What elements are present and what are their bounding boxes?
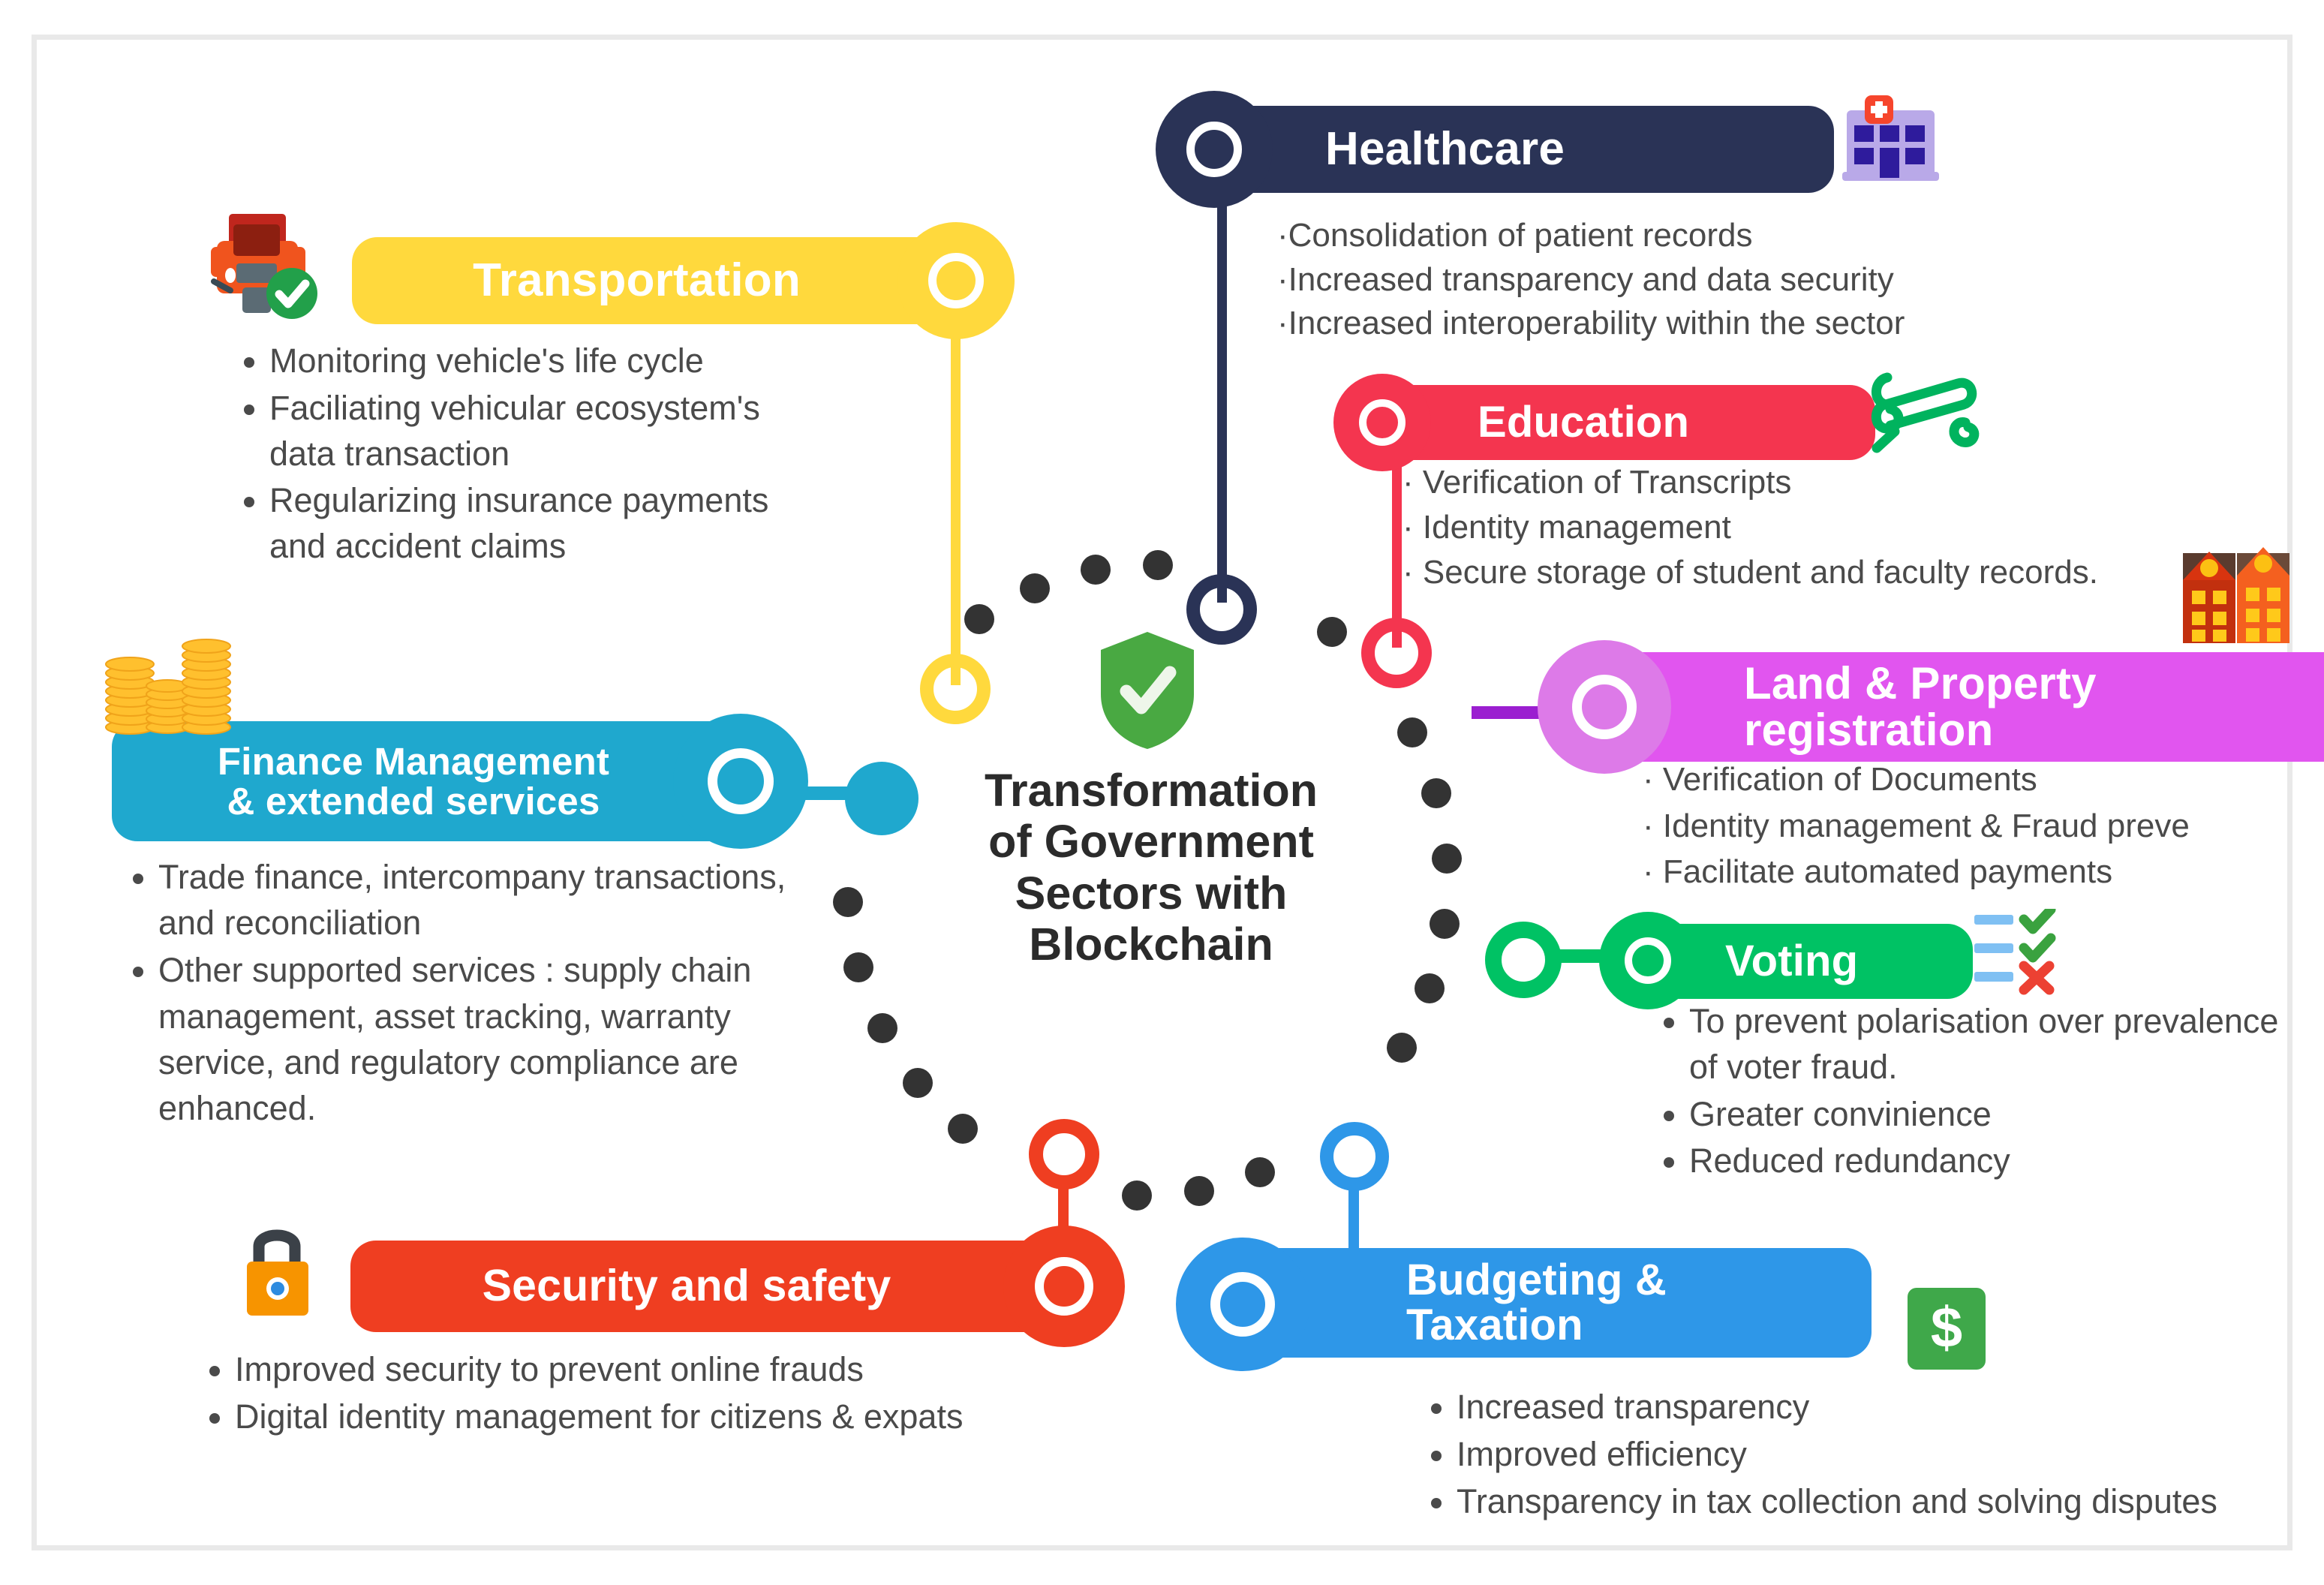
ring-dot — [1432, 844, 1462, 874]
diploma-scroll-icon — [1868, 370, 1995, 464]
list-item: Faciliating vehicular ecosystem's data t… — [269, 386, 823, 477]
land-property-label: Land & Property registration — [1744, 660, 2097, 754]
list-item: · Identity management & Fraud preve — [1643, 803, 2324, 850]
healthcare-ring-node — [1186, 574, 1257, 645]
list-item: Transparency in tax collection and solvi… — [1457, 1479, 2258, 1525]
page-title: Transformation of Government Sectors wit… — [930, 765, 1372, 970]
ring-dot — [843, 952, 873, 982]
shield-check-icon — [1098, 630, 1197, 751]
ring-dot — [867, 1013, 897, 1043]
healthcare-label: Healthcare — [1325, 125, 1565, 173]
security-bullets: Improved security to prevent online frau… — [196, 1347, 991, 1442]
padlock-icon — [236, 1218, 319, 1319]
list-item: · Secure storage of student and faculty … — [1403, 550, 2153, 595]
list-item: Trade finance, intercompany transactions… — [158, 854, 832, 946]
ring-dot — [833, 887, 863, 917]
voting-bullets: To prevent polarisation over prevalence … — [1650, 999, 2280, 1186]
ring-dot — [1415, 973, 1445, 1003]
finance-label: Finance Management & extended services — [218, 741, 609, 821]
infographic-canvas: Transformation of Government Sectors wit… — [0, 0, 2324, 1585]
dollar-badge-icon: $ — [1905, 1286, 1988, 1372]
land-property-bullets: · Verification of Documents · Identity m… — [1643, 756, 2324, 895]
security-pill[interactable]: Security and safety — [350, 1241, 1101, 1332]
ring-dot — [1143, 550, 1173, 580]
list-item: To prevent polarisation over prevalence … — [1689, 999, 2280, 1090]
list-item: Greater convinience — [1689, 1092, 2280, 1138]
security-label: Security and safety — [483, 1263, 891, 1309]
ring-dot — [1317, 617, 1347, 647]
list-item: ·Increased transparency and data securit… — [1277, 258, 2118, 302]
list-item: ·Increased interoperability within the s… — [1277, 302, 2118, 346]
healthcare-bullets: ·Consolidation of patient records ·Incre… — [1277, 214, 2118, 346]
ring-dot — [1430, 909, 1460, 939]
education-ring-node — [1361, 618, 1432, 688]
land-property-knob — [1538, 640, 1671, 774]
ring-dot — [1397, 717, 1427, 747]
education-pill[interactable]: Education — [1365, 385, 1875, 460]
ballot-checklist-icon — [1973, 909, 2074, 995]
list-item: ·Consolidation of patient records — [1277, 214, 2118, 258]
healthcare-pill[interactable]: Healthcare — [1196, 106, 1834, 193]
healthcare-knob — [1156, 91, 1273, 208]
education-bullets: · Verification of Transcripts · Identity… — [1403, 460, 2153, 594]
list-item: Monitoring vehicle's life cycle — [269, 338, 823, 384]
ring-dot — [1184, 1176, 1214, 1206]
infographic-frame: Transformation of Government Sectors wit… — [32, 35, 2292, 1550]
svg-text:$: $ — [1931, 1296, 1962, 1360]
ring-dot — [1421, 778, 1451, 808]
truck-check-icon — [200, 206, 328, 323]
transportation-knob — [897, 222, 1015, 339]
list-item: · Verification of Transcripts — [1403, 460, 2153, 505]
hospital-icon — [1836, 79, 1945, 188]
budgeting-knob — [1176, 1238, 1309, 1371]
healthcare-connector — [1217, 152, 1227, 603]
education-knob — [1333, 374, 1431, 471]
security-knob — [1003, 1226, 1125, 1347]
ring-dot — [1020, 573, 1050, 603]
education-label: Education — [1478, 400, 1689, 445]
list-item: Reduced redundancy — [1689, 1138, 2280, 1184]
transportation-ring-node — [920, 654, 991, 724]
list-item: Digital identity management for citizens… — [235, 1394, 991, 1440]
buildings-icon — [2180, 538, 2292, 643]
coins-stack-icon — [98, 630, 237, 735]
ring-dot — [1081, 555, 1111, 585]
ring-dot — [948, 1114, 978, 1144]
list-item: · Identity management — [1403, 505, 2153, 550]
list-item: Increased transparency — [1457, 1385, 2258, 1430]
land-property-pill[interactable]: Land & Property registration — [1583, 652, 2324, 762]
finance-knob — [673, 714, 808, 849]
list-item: · Facilitate automated payments — [1643, 849, 2324, 895]
budgeting-bullets: Increased transparency Improved efficien… — [1418, 1385, 2258, 1526]
voting-label: Voting — [1725, 939, 1858, 984]
voting-ring-node — [1485, 922, 1562, 998]
ring-dot — [964, 604, 994, 634]
budgeting-pill[interactable]: Budgeting & Taxation — [1211, 1248, 1872, 1358]
ring-dot — [903, 1068, 933, 1098]
list-item: Improved security to prevent online frau… — [235, 1347, 991, 1393]
ring-dot — [1387, 1033, 1417, 1063]
transportation-label: Transportation — [473, 257, 801, 305]
budgeting-label: Budgeting & Taxation — [1406, 1258, 1667, 1349]
list-item: Regularizing insurance payments and acci… — [269, 478, 823, 570]
list-item: · Verification of Documents — [1643, 756, 2324, 803]
list-item: Other supported services : supply chain … — [158, 947, 832, 1131]
ring-dot — [1245, 1157, 1275, 1187]
security-ring-node — [1029, 1119, 1099, 1190]
transportation-bullets: Monitoring vehicle's life cycle Faciliat… — [230, 338, 823, 571]
finance-bullets: Trade finance, intercompany transactions… — [119, 854, 832, 1132]
voting-knob — [1599, 912, 1697, 1009]
list-item: Improved efficiency — [1457, 1432, 2258, 1478]
ring-dot — [1122, 1180, 1152, 1211]
transportation-pill[interactable]: Transportation — [352, 237, 986, 324]
